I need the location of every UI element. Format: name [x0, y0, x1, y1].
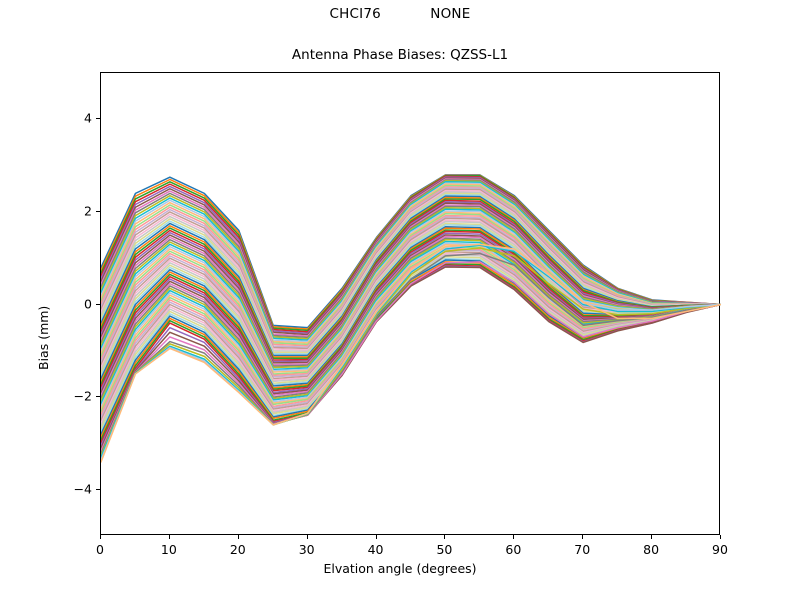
- x-tick-label: 90: [700, 542, 740, 557]
- x-tick-label: 0: [80, 542, 120, 557]
- figure-canvas: CHCI76 NONE Antenna Phase Biases: QZSS-L…: [0, 0, 800, 600]
- plot-axes: [100, 72, 720, 535]
- x-tick-mark: [651, 535, 652, 539]
- y-axis-label: Bias (mm): [36, 306, 51, 370]
- x-tick-mark: [100, 535, 101, 539]
- series-lines-group: [101, 175, 721, 462]
- figure-suptitle: CHCI76 NONE: [0, 6, 800, 22]
- y-tick-mark: [96, 304, 100, 305]
- x-tick-mark: [307, 535, 308, 539]
- y-tick-label: 2: [54, 203, 92, 218]
- y-tick-mark: [96, 489, 100, 490]
- y-tick-label: −4: [54, 481, 92, 496]
- x-tick-label: 50: [424, 542, 464, 557]
- x-tick-label: 10: [149, 542, 189, 557]
- x-tick-label: 60: [493, 542, 533, 557]
- x-tick-label: 70: [562, 542, 602, 557]
- x-tick-label: 40: [356, 542, 396, 557]
- x-tick-label: 30: [287, 542, 327, 557]
- x-tick-mark: [582, 535, 583, 539]
- plot-lines-svg: [101, 73, 721, 536]
- x-tick-mark: [376, 535, 377, 539]
- x-tick-mark: [720, 535, 721, 539]
- x-tick-label: 20: [218, 542, 258, 557]
- y-tick-labels: −4−2024: [54, 72, 92, 535]
- x-tick-mark: [238, 535, 239, 539]
- y-tick-mark: [96, 396, 100, 397]
- chart-title: Antenna Phase Biases: QZSS-L1: [0, 47, 800, 63]
- y-tick-mark: [96, 211, 100, 212]
- y-tick-label: −2: [54, 389, 92, 404]
- y-tick-mark: [96, 118, 100, 119]
- x-tick-mark: [444, 535, 445, 539]
- x-tick-mark: [169, 535, 170, 539]
- x-axis-label: Elvation angle (degrees): [0, 561, 800, 576]
- x-tick-label: 80: [631, 542, 671, 557]
- x-tick-mark: [513, 535, 514, 539]
- y-tick-label: 4: [54, 111, 92, 126]
- y-tick-label: 0: [54, 296, 92, 311]
